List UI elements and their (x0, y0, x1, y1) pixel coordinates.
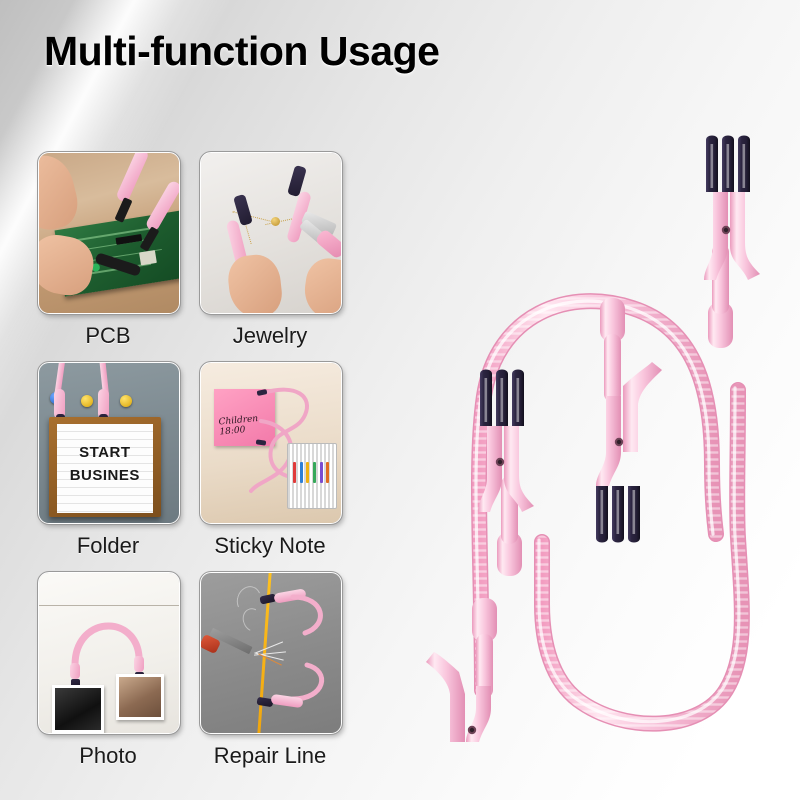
folder-icon: START BUSINES (39, 363, 179, 523)
product-illustration (356, 134, 800, 746)
infographic-canvas: Multi-function Usage (0, 0, 800, 800)
thumbnail-card-jewelry[interactable] (200, 152, 342, 314)
thumbnail-card-photo[interactable] (38, 572, 180, 734)
gallery-caption-photo: Photo (38, 734, 178, 778)
pcb-icon (39, 153, 179, 313)
thumbnail-card-sticky-note[interactable]: Children 18:00 (200, 362, 342, 524)
gallery-caption-pcb: PCB (38, 314, 178, 358)
sticky-note-icon: Children 18:00 (201, 363, 341, 523)
jewelry-icon (201, 153, 341, 313)
gallery-caption-jewelry: Jewelry (200, 314, 340, 358)
thumbnail-card-folder[interactable]: START BUSINES (38, 362, 180, 524)
photo-icon (39, 573, 179, 733)
gallery-item-repair-line[interactable]: Repair Line (200, 572, 340, 778)
gallery-item-folder[interactable]: START BUSINES Folder (38, 362, 178, 568)
thumbnail-card-repair-line[interactable] (200, 572, 342, 734)
gallery-caption-repair-line: Repair Line (200, 734, 340, 778)
gallery-item-photo[interactable]: Photo (38, 572, 178, 778)
gallery-item-sticky-note[interactable]: Children 18:00 (200, 362, 340, 568)
product-hero-image (356, 134, 800, 746)
usage-gallery: PCB (38, 152, 340, 778)
letterboard-line-1: START (57, 444, 153, 461)
gallery-item-jewelry[interactable]: Jewelry (200, 152, 340, 358)
letterboard-line-2: BUSINES (57, 467, 153, 484)
page-title: Multi-function Usage (44, 28, 439, 75)
thumbnail-card-pcb[interactable] (38, 152, 180, 314)
gallery-caption-folder: Folder (38, 524, 178, 568)
repair-line-icon (201, 573, 341, 733)
gallery-item-pcb[interactable]: PCB (38, 152, 178, 358)
gallery-caption-sticky-note: Sticky Note (200, 524, 340, 568)
